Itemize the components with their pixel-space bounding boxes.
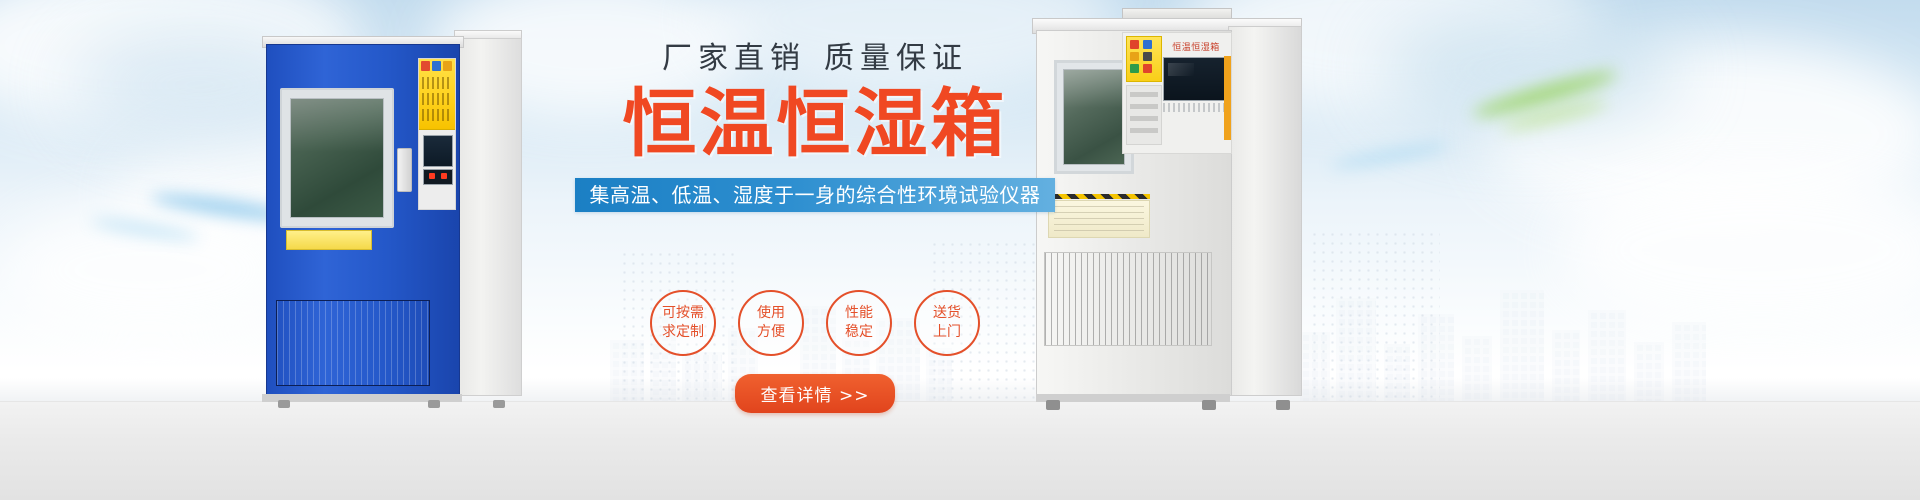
right-brand-text: 恒温恒湿箱: [1165, 37, 1227, 55]
left-vent-grille: [276, 300, 430, 386]
left-chamber-door: [280, 88, 394, 228]
left-control-panel: [418, 58, 456, 210]
left-product-nameplate: [286, 230, 372, 250]
banner-subtitle-bar: 集高温、低温、湿度于一身的综合性环境试验仪器: [575, 178, 1055, 212]
feature-badge-row: 可按需 求定制 使用 方便 性能 稳定 送货 上门: [575, 290, 1055, 356]
left-chamber-handle: [397, 148, 412, 192]
headline-left-text: 厂家直销: [662, 41, 806, 76]
promo-banner: 恒温恒湿箱 厂家直销质量保证 恒温恒湿箱 集高温、低温、湿度于一身的综合性环境试…: [0, 0, 1920, 500]
right-display-screen: [1163, 57, 1229, 101]
feature-badge-4[interactable]: 送货 上门: [914, 290, 980, 356]
left-indicator-leds: [423, 169, 453, 185]
right-accent-stripe: [1224, 56, 1231, 140]
feature-badge-2[interactable]: 使用 方便: [738, 290, 804, 356]
right-vent-grille: [1044, 252, 1212, 346]
feature-badge-4-line1: 送货: [933, 304, 961, 323]
right-warning-label: [1126, 36, 1162, 82]
right-hazard-stripe: [1046, 194, 1150, 199]
feature-badge-3[interactable]: 性能 稳定: [826, 290, 892, 356]
left-warning-label: [419, 59, 455, 130]
ground-strip: [0, 401, 1920, 500]
cta-container: 查看详情 >>: [575, 374, 1055, 413]
right-spec-plate: [1048, 200, 1150, 238]
left-display-screen: [423, 135, 453, 167]
feature-badge-2-line2: 方便: [757, 323, 785, 342]
feature-badge-4-line2: 上门: [933, 323, 961, 342]
banner-text-block: 厂家直销质量保证 恒温恒湿箱 集高温、低温、湿度于一身的综合性环境试验仪器: [575, 44, 1055, 212]
feature-badge-1-line1: 可按需: [662, 304, 704, 323]
headline-right-text: 质量保证: [824, 41, 968, 76]
feature-badge-1[interactable]: 可按需 求定制: [650, 290, 716, 356]
banner-headline: 厂家直销质量保证: [575, 44, 1055, 74]
feature-badge-1-line2: 求定制: [662, 323, 704, 342]
banner-main-title: 恒温恒湿箱: [575, 86, 1055, 164]
feature-badge-3-line1: 性能: [845, 304, 873, 323]
feature-badge-3-line2: 稳定: [845, 323, 873, 342]
feature-badge-2-line1: 使用: [757, 304, 785, 323]
view-details-button[interactable]: 查看详情 >>: [735, 374, 896, 413]
cloud-decor: [0, 200, 300, 340]
product-image-right: 恒温恒湿箱: [1030, 8, 1300, 402]
right-side-strip: [1126, 85, 1162, 145]
cloud-tint-decor: [1380, 10, 1680, 130]
dot-pattern-decor: [1310, 230, 1440, 400]
right-control-panel: 恒温恒湿箱: [1122, 32, 1232, 154]
product-image-left: [258, 30, 520, 402]
